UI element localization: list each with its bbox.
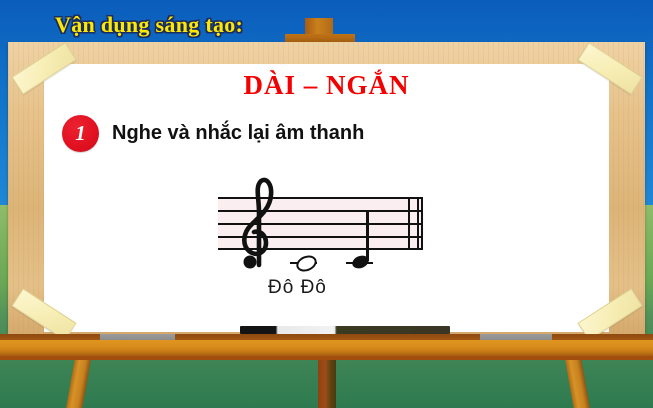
treble-clef-icon [235,175,281,271]
slide-header-title: Vận dụng sáng tạo: [55,12,243,38]
quarter-note-stem [366,211,369,261]
barline-thin-2 [417,197,419,250]
task-number-badge: 1 [62,115,99,152]
barline-thin-1 [408,197,410,250]
barline-end [421,197,423,250]
easel-tray [0,340,653,360]
task-item-1: 1 Nghe và nhắc lại âm thanh [62,115,364,152]
whole-note [294,253,319,275]
clef-lower-dot [244,256,257,269]
task-label: Nghe và nhắc lại âm thanh [112,122,364,145]
slide-canvas: Vận dụng sáng tạo: DÀI – NGẮN 1 Nghe và … [0,0,653,408]
whiteboard-marker [240,326,450,334]
page-title: DÀI – NGẮN [0,70,653,101]
note-syllables: Đô Đô [268,277,388,299]
music-notation: Đô Đô [218,173,423,308]
